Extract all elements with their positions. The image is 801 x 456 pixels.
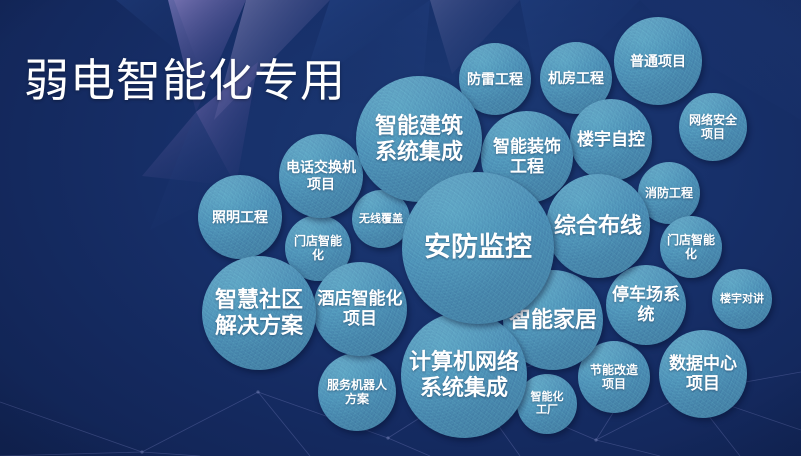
bubble-item[interactable]: 服务机器人方案 (318, 353, 396, 431)
slide-canvas: 弱电智能化专用 安防监控智能建筑系统集成计算机网络系统集成智慧社区解决方案综合布… (0, 0, 801, 456)
bubble-label: 节能改造项目 (585, 363, 643, 391)
bubble-label: 智能化工厂 (526, 391, 569, 417)
bubble-label: 智能建筑系统集成 (370, 113, 468, 165)
bubble-item[interactable]: 楼宇自控 (570, 99, 652, 181)
bubble-label: 停车场系统 (607, 285, 685, 325)
bubble-label: 网络安全项目 (684, 113, 742, 141)
bubble-label: 智能装饰工程 (488, 137, 566, 177)
bubble-label: 数据中心项目 (664, 354, 742, 394)
bubble-label: 综合布线 (549, 213, 647, 239)
bubble-label: 电话交换机项目 (281, 159, 361, 192)
bubble-label: 楼宇自控 (572, 130, 650, 150)
bubble-item[interactable]: 综合布线 (546, 174, 650, 278)
bubble-label: 安防监控 (419, 232, 537, 264)
bubble-label: 楼宇对讲 (715, 293, 769, 306)
bubble-label: 酒店智能化项目 (313, 289, 407, 329)
bubble-item[interactable]: 计算机网络系统集成 (401, 312, 527, 438)
bubble-item[interactable]: 照明工程 (198, 175, 282, 259)
bubble-label: 照明工程 (207, 209, 273, 226)
bubble-label: 防雷工程 (462, 71, 528, 88)
bubble-label: 消防工程 (640, 186, 698, 200)
bubble-label: 无线覆盖 (354, 213, 408, 226)
bubble-label: 机房工程 (543, 70, 609, 87)
bubble-label: 普通项目 (625, 53, 691, 70)
bubble-item[interactable]: 电话交换机项目 (279, 134, 363, 218)
bubble-item[interactable]: 网络安全项目 (679, 93, 747, 161)
page-title: 弱电智能化专用 (24, 58, 346, 103)
bubble-label: 计算机网络系统集成 (404, 349, 524, 401)
bubble-item[interactable]: 门店智能化 (660, 216, 722, 278)
bubble-label: 门店智能化 (662, 233, 720, 261)
bubble-label: 智慧社区解决方案 (210, 287, 308, 339)
bubble-item[interactable]: 智慧社区解决方案 (202, 256, 316, 370)
bubble-item[interactable]: 安防监控 (402, 172, 554, 324)
bubble-item[interactable]: 停车场系统 (606, 265, 686, 345)
bubble-item[interactable]: 普通项目 (614, 17, 702, 105)
bubble-item[interactable]: 楼宇对讲 (712, 269, 772, 329)
bubble-label: 服务机器人方案 (322, 378, 392, 406)
bubble-item[interactable]: 数据中心项目 (659, 330, 747, 418)
bubble-item[interactable]: 酒店智能化项目 (313, 262, 407, 356)
bubble-label: 门店智能化 (289, 234, 347, 262)
